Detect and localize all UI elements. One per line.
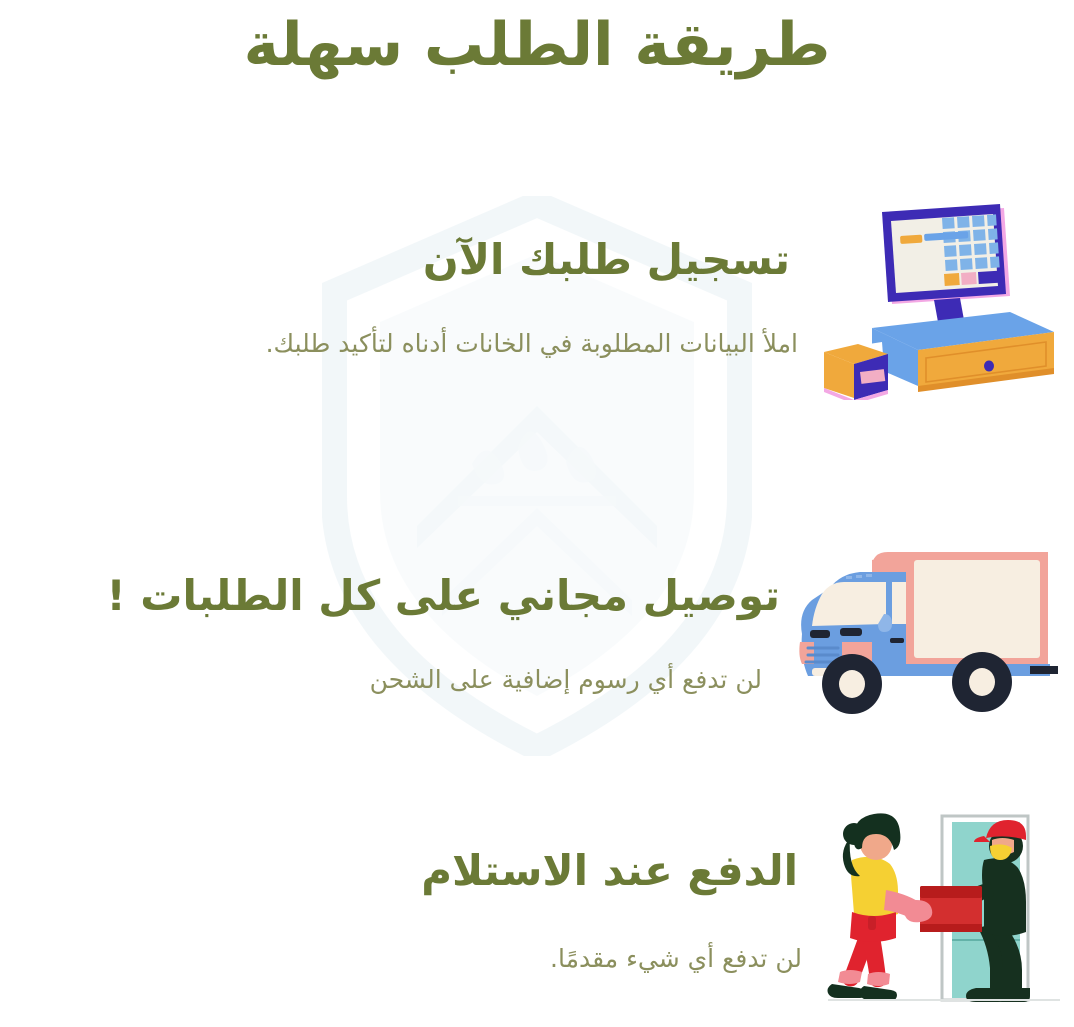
order-steps-page: طريقة الطلب سهلة	[0, 0, 1074, 1027]
free-delivery-subtext: لن تدفع أي رسوم إضافية على الشحن	[370, 662, 762, 697]
register-order-subtext: املأ البيانات المطلوبة في الخانات أدناه …	[266, 326, 798, 361]
section-cash-on-delivery: الدفع عند الاستلام لن تدفع أي شيء مقدمًا…	[4, 812, 1064, 1012]
register-order-text: تسجيل طلبك الآن املأ البيانات المطلوبة ف…	[266, 233, 798, 367]
free-delivery-heading: توصيل مجاني على كل الطلبات !	[107, 569, 780, 624]
page-title: طريقة الطلب سهلة	[0, 8, 1074, 83]
cash-on-delivery-illustration	[824, 812, 1064, 1012]
cash-on-delivery-subtext: لن تدفع أي شيء مقدمًا.	[550, 941, 802, 976]
section-free-delivery: توصيل مجاني على كل الطلبات ! لن تدفع أي …	[4, 538, 1066, 728]
desktop-computer-illustration	[814, 200, 1064, 400]
cash-on-delivery-text: الدفع عند الاستلام لن تدفع أي شيء مقدمًا…	[421, 844, 804, 980]
register-order-heading: تسجيل طلبك الآن	[423, 233, 790, 288]
delivery-truck-illustration	[786, 538, 1066, 728]
cash-on-delivery-heading: الدفع عند الاستلام	[421, 844, 798, 899]
section-register-order: تسجيل طلبك الآن املأ البيانات المطلوبة ف…	[4, 200, 1064, 400]
free-delivery-text: توصيل مجاني على كل الطلبات ! لن تدفع أي …	[107, 569, 780, 697]
